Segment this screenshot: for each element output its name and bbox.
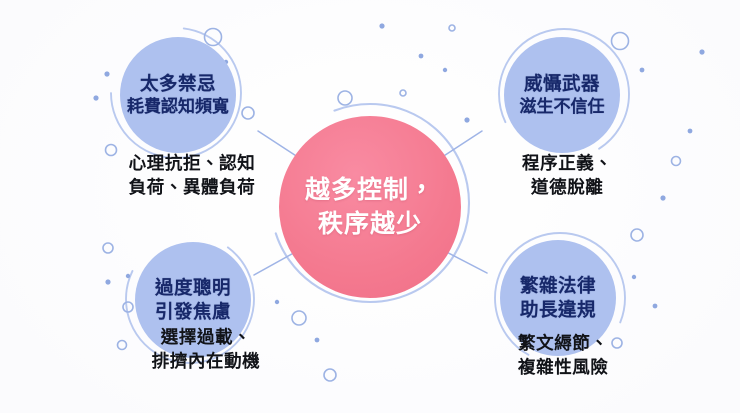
node-top-right-line-1: 威懾武器	[524, 72, 600, 96]
decor-ring	[123, 302, 133, 312]
caption-top-right: 程序正義、 道德脫離	[522, 152, 712, 200]
node-top-left[interactable]: 太多禁忌 耗費認知頻寬	[120, 37, 236, 153]
decor-dot	[315, 338, 320, 343]
infographic-canvas: 越多控制， 秩序越少 太多禁忌 耗費認知頻寬 威懾武器 滋生不信任 過度聰明 引…	[0, 0, 740, 413]
caption-top-right-line-1: 程序正義、	[522, 152, 712, 176]
caption-bottom-left-line-1: 選擇過載、	[118, 326, 294, 350]
center-line-1: 越多控制，	[305, 173, 435, 207]
node-bottom-left-line-2: 引發焦慮	[155, 300, 231, 324]
decor-dot	[653, 304, 658, 309]
decor-dot	[93, 95, 98, 100]
node-top-left-line-1: 太多禁忌	[140, 72, 216, 96]
node-bottom-left-line-1: 過度聰明	[155, 276, 231, 300]
decor-ring	[631, 229, 643, 241]
decor-dot	[379, 23, 384, 28]
decor-dot	[105, 279, 110, 284]
decor-dot	[464, 117, 469, 122]
decor-dot	[126, 274, 130, 278]
caption-bottom-left: 選擇過載、 排擠內在動機	[118, 326, 294, 374]
decor-dot	[640, 68, 645, 73]
caption-top-right-line-2: 道德脫離	[522, 176, 712, 200]
decor-dot	[104, 71, 109, 76]
decor-dot	[419, 54, 424, 59]
node-bottom-right-line-1: 繁雜法律	[520, 274, 596, 298]
decor-ring	[103, 243, 113, 253]
caption-top-left: 心理抗拒、認知 負荷、異體負荷	[104, 152, 280, 200]
node-top-left-line-2: 耗費認知頻寬	[127, 96, 229, 118]
decor-ring	[612, 33, 629, 50]
decor-dot	[632, 275, 636, 279]
decor-ring	[205, 29, 222, 46]
caption-bottom-right-line-1: 繁文縟節、	[518, 332, 708, 356]
decor-ring	[324, 369, 336, 381]
caption-bottom-left-line-2: 排擠內在動機	[118, 350, 294, 374]
decor-ring	[449, 25, 455, 31]
node-bottom-right-line-2: 助長違規	[520, 298, 596, 322]
decor-dot	[443, 68, 447, 72]
caption-bottom-right: 繁文縟節、 複雜性風險	[518, 332, 708, 380]
decor-ring	[400, 90, 406, 96]
caption-top-left-line-2: 負荷、異體負荷	[104, 176, 280, 200]
decor-ring	[338, 91, 352, 105]
center-node: 越多控制， 秩序越少	[279, 116, 461, 298]
decor-dot	[275, 300, 279, 304]
decor-ring	[292, 311, 306, 325]
decor-dot	[699, 49, 704, 54]
center-line-2: 秩序越少	[318, 207, 422, 241]
caption-bottom-right-line-2: 複雜性風險	[518, 356, 708, 380]
decor-ring	[242, 107, 254, 119]
node-top-right[interactable]: 威懾武器 滋生不信任	[504, 37, 620, 153]
caption-top-left-line-1: 心理抗拒、認知	[104, 152, 280, 176]
node-top-right-line-2: 滋生不信任	[520, 96, 605, 118]
decor-dot	[688, 129, 693, 134]
